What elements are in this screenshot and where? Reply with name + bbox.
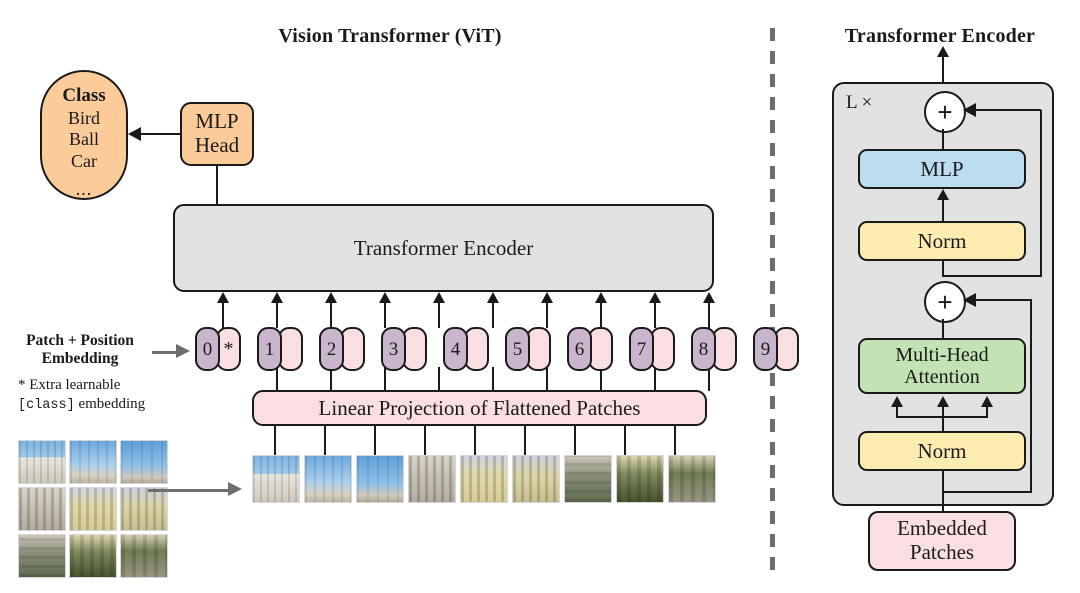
source-image-patch — [120, 487, 168, 531]
qkv-arrowhead-right — [981, 396, 993, 407]
embedding-token: 4 — [443, 327, 489, 371]
residual-top-arrowhead — [963, 103, 976, 117]
patch-to-projection-line — [624, 426, 626, 456]
embedding-token: 0* — [195, 327, 241, 371]
token-to-encoder-arrowhead — [325, 292, 337, 303]
linear-projection-box: Linear Projection of Flattened Patches — [252, 390, 707, 426]
patch-to-projection-line — [324, 426, 326, 456]
embedded-patches-block: Embedded Patches — [868, 511, 1016, 571]
patch-to-projection-line — [674, 426, 676, 456]
residual-bottom-hline — [942, 491, 1032, 493]
residual-add-bottom: + — [924, 281, 966, 323]
mlp-head-line1: MLP — [195, 110, 238, 134]
position-embedding-2: 2 — [319, 327, 344, 371]
residual-top-hline-bottom — [942, 275, 1042, 277]
class-ellipsis: ... — [76, 179, 93, 201]
attention-line1: Multi-Head — [895, 344, 988, 366]
token-to-encoder-arrowhead — [217, 292, 229, 303]
token-to-encoder-arrowhead — [487, 292, 499, 303]
embedded-patches-line2: Patches — [910, 541, 974, 565]
flattened-patch — [304, 455, 352, 503]
source-image-patch — [69, 487, 117, 531]
token-to-encoder-arrowhead — [433, 292, 445, 303]
token-to-encoder-arrowhead — [595, 292, 607, 303]
position-embedding-4: 4 — [443, 327, 468, 371]
mlp-head-box: MLP Head — [180, 102, 254, 166]
embedding-label-arrowhead — [176, 344, 190, 358]
patch-to-projection-line — [574, 426, 576, 456]
embedding-token: 3 — [381, 327, 427, 371]
residual-top-vline-right — [1040, 110, 1042, 277]
class-item-ball: Ball — [69, 129, 99, 151]
patch-to-projection-line — [524, 426, 526, 456]
multihead-attention-block: Multi-Head Attention — [858, 338, 1026, 394]
position-embedding-7: 7 — [629, 327, 654, 371]
qkv-arrowhead-left — [891, 396, 903, 407]
extra-learnable-note: * Extra learnable [class] embedding — [18, 376, 178, 415]
flattened-patch — [460, 455, 508, 503]
source-image-patch — [120, 534, 168, 578]
panel-divider — [770, 28, 775, 576]
token-to-encoder-arrowhead — [541, 292, 553, 303]
linear-projection-label: Linear Projection of Flattened Patches — [319, 396, 641, 421]
encoder-output-arrowhead — [937, 46, 949, 57]
token-riser — [384, 300, 386, 328]
position-embedding-3: 3 — [381, 327, 406, 371]
embedding-token: 5 — [505, 327, 551, 371]
qkv-arrowhead-center — [937, 396, 949, 407]
token-riser — [546, 300, 548, 328]
mlp-block-label: MLP — [920, 157, 963, 182]
source-image-patch — [18, 487, 66, 531]
attention-line2: Attention — [904, 366, 980, 388]
flattened-patch — [616, 455, 664, 503]
position-embedding-5: 5 — [505, 327, 530, 371]
token-to-encoder-arrowhead — [379, 292, 391, 303]
mlp-to-class-line — [140, 133, 180, 135]
projection-to-token-line — [546, 367, 548, 391]
grid-to-strip-arrowhead — [228, 482, 242, 496]
residual-bottom-hline-into-add — [975, 299, 1031, 301]
extra-learnable-line2-tail: embedding — [75, 396, 145, 412]
flattened-patch — [512, 455, 560, 503]
norm-bottom-label: Norm — [918, 439, 967, 464]
right-panel-title-text: Transformer Encoder — [845, 25, 1035, 48]
position-embedding-8: 8 — [691, 327, 716, 371]
source-image-patch — [69, 440, 117, 484]
transformer-encoder-label: Transformer Encoder — [354, 236, 533, 261]
token-riser — [492, 300, 494, 328]
projection-to-token-line — [708, 367, 710, 391]
projection-to-token-line — [492, 367, 494, 391]
source-image-patch-grid — [18, 440, 168, 578]
token-riser — [600, 300, 602, 328]
source-image-patch — [120, 440, 168, 484]
class-heading: Class — [62, 85, 105, 108]
token-to-encoder-arrowhead — [703, 292, 715, 303]
grid-to-strip-arrow-line — [148, 489, 230, 492]
mlp-to-add-line — [942, 129, 944, 149]
left-panel-title-text: Vision Transformer (ViT) — [278, 25, 501, 48]
plus-symbol-top: + — [937, 99, 952, 125]
class-item-bird: Bird — [68, 108, 100, 130]
patch-to-projection-line — [474, 426, 476, 456]
residual-bottom-vline-right — [1030, 299, 1032, 491]
projection-to-token-line — [276, 367, 278, 391]
residual-top-hline-into-add — [975, 109, 1041, 111]
normtop-to-mlp-arrowhead — [937, 189, 949, 200]
mlp-head-line2: Head — [195, 134, 239, 158]
token-riser — [222, 300, 224, 328]
patch-to-projection-line — [274, 426, 276, 456]
embedding-token: 6 — [567, 327, 613, 371]
attention-to-add-line — [942, 319, 944, 338]
position-embedding-9: 9 — [753, 327, 778, 371]
norm-top-label: Norm — [918, 229, 967, 254]
repeat-count-label: L × — [846, 92, 872, 114]
extra-learnable-line1: * Extra learnable — [18, 376, 178, 395]
class-output-box: Class Bird Ball Car ... — [40, 70, 128, 200]
embedding-token: 7 — [629, 327, 675, 371]
embedding-token: 8 — [691, 327, 737, 371]
residual-add-top: + — [924, 91, 966, 133]
flattened-patch — [356, 455, 404, 503]
transformer-encoder-box: Transformer Encoder — [173, 204, 714, 292]
left-panel-title: Vision Transformer (ViT) — [190, 22, 590, 50]
token-riser — [276, 300, 278, 328]
position-embedding-0: 0 — [195, 327, 220, 371]
norm-bottom-block: Norm — [858, 431, 1026, 471]
qkv-stem-center — [942, 416, 944, 431]
flattened-patch — [252, 455, 300, 503]
token-riser — [708, 300, 710, 328]
flattened-patch-strip — [252, 455, 716, 503]
embedding-token: 1 — [257, 327, 303, 371]
token-to-encoder-arrowhead — [649, 292, 661, 303]
source-image-patch — [18, 440, 66, 484]
mlp-to-class-arrowhead — [128, 127, 141, 141]
embedded-patches-line1: Embedded — [897, 517, 987, 541]
projection-to-token-line — [438, 367, 440, 391]
position-embedding-6: 6 — [567, 327, 592, 371]
token-riser — [654, 300, 656, 328]
flattened-patch — [668, 455, 716, 503]
token-row: 0*123456789 — [195, 327, 799, 371]
token-to-encoder-arrowhead — [271, 292, 283, 303]
token-riser — [330, 300, 332, 328]
patch-to-projection-line — [374, 426, 376, 456]
plus-symbol-bottom: + — [937, 289, 952, 315]
mlp-block: MLP — [858, 149, 1026, 189]
patch-position-embedding-label: Patch + Position Embedding — [10, 332, 150, 369]
embedding-token: 2 — [319, 327, 365, 371]
embedding-label-line1: Patch + Position — [10, 332, 150, 350]
class-token-code: [class] — [18, 398, 75, 413]
patch-to-projection-line — [424, 426, 426, 456]
projection-to-token-line — [654, 367, 656, 391]
embedded-to-norm-line — [942, 471, 944, 513]
embedding-token: 9 — [753, 327, 799, 371]
projection-to-token-line — [384, 367, 386, 391]
residual-bottom-arrowhead — [963, 293, 976, 307]
embedding-label-line2: Embedding — [10, 350, 150, 368]
norm-top-block: Norm — [858, 221, 1026, 261]
mlphead-to-encoder-line — [216, 166, 218, 204]
source-image-patch — [69, 534, 117, 578]
source-image-patch — [18, 534, 66, 578]
flattened-patch — [564, 455, 612, 503]
embedding-label-arrow-line — [152, 351, 178, 354]
position-embedding-1: 1 — [257, 327, 282, 371]
flattened-patch — [408, 455, 456, 503]
token-riser — [438, 300, 440, 328]
class-item-car: Car — [71, 151, 97, 173]
